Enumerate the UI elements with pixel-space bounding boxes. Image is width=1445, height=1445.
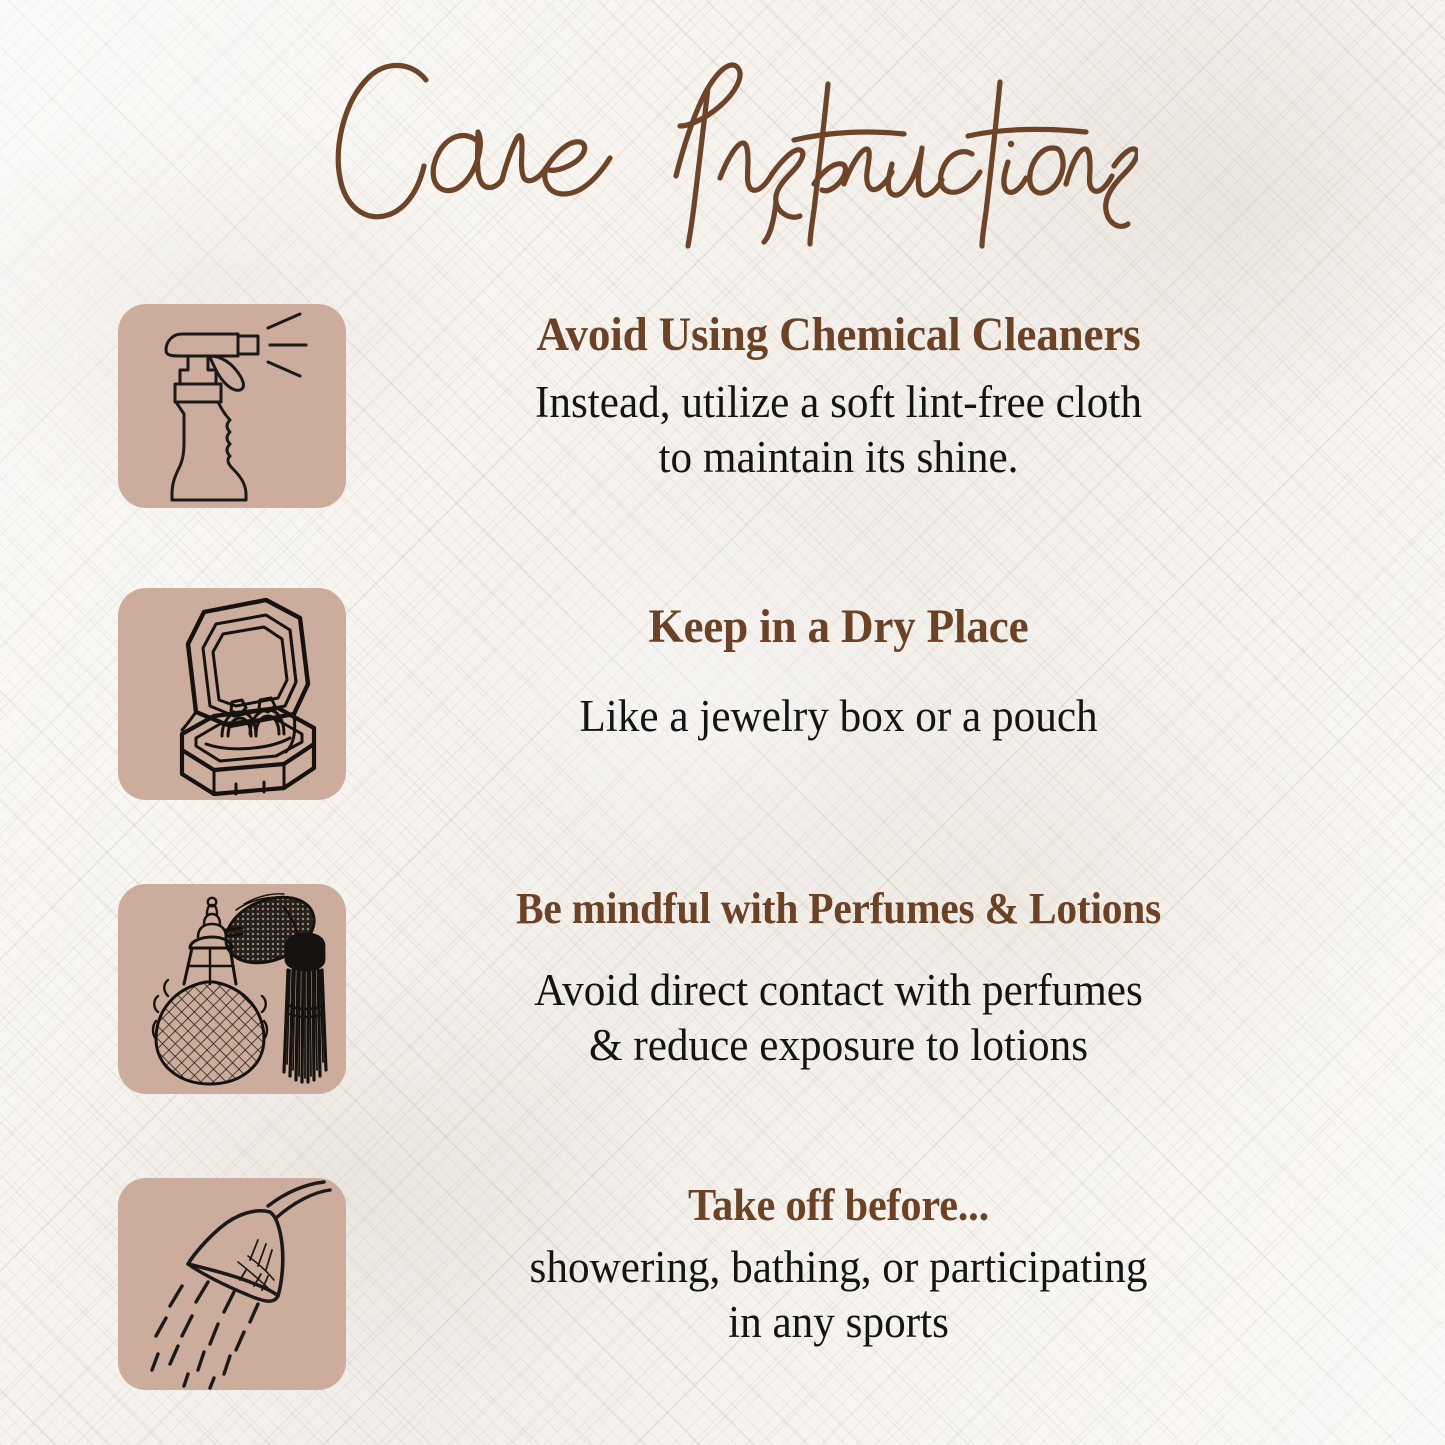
care-item-body: Instead, utilize a soft lint-free cloth …	[383, 375, 1294, 485]
care-item-row: Be mindful with Perfumes & Lotions Avoid…	[0, 884, 1445, 1094]
body-line: Instead, utilize a soft lint-free cloth	[383, 375, 1294, 430]
spray-bottle-icon	[118, 304, 346, 508]
care-item-body: Like a jewelry box or a pouch	[383, 689, 1294, 744]
care-item-row: Keep in a Dry Place Like a jewelry box o…	[0, 588, 1445, 800]
care-item-heading: Keep in a Dry Place	[392, 602, 1284, 653]
icon-tile-shower	[118, 1178, 346, 1390]
icon-tile-spray-bottle	[118, 304, 346, 508]
body-line: to maintain its shine.	[383, 430, 1294, 485]
jewelry-ring-box-icon	[118, 588, 346, 800]
icon-tile-jewelry-box	[118, 588, 346, 800]
care-item-text: Take off before... showering, bathing, o…	[346, 1178, 1445, 1349]
care-item-heading: Take off before...	[392, 1182, 1284, 1230]
care-instructions-card: Avoid Using Chemical Cleaners Instead, u…	[0, 0, 1445, 1445]
shower-head-icon	[118, 1178, 346, 1390]
perfume-atomizer-icon	[118, 884, 346, 1094]
body-line: showering, bathing, or participating	[383, 1240, 1294, 1295]
care-item-body: showering, bathing, or participating in …	[383, 1240, 1294, 1350]
icon-tile-perfume	[118, 884, 346, 1094]
care-item-text: Keep in a Dry Place Like a jewelry box o…	[346, 588, 1445, 744]
body-line: Like a jewelry box or a pouch	[383, 689, 1294, 744]
care-item-heading: Be mindful with Perfumes & Lotions	[392, 886, 1284, 933]
body-line: in any sports	[383, 1295, 1294, 1350]
body-line: Avoid direct contact with perfumes	[383, 963, 1294, 1018]
body-line: & reduce exposure to lotions	[383, 1018, 1294, 1073]
care-item-body: Avoid direct contact with perfumes & red…	[383, 963, 1294, 1073]
page-title-script	[308, 44, 1138, 256]
page-title	[0, 44, 1445, 261]
care-item-row: Avoid Using Chemical Cleaners Instead, u…	[0, 304, 1445, 508]
care-item-text: Be mindful with Perfumes & Lotions Avoid…	[346, 884, 1445, 1072]
care-item-heading: Avoid Using Chemical Cleaners	[392, 310, 1284, 361]
care-item-text: Avoid Using Chemical Cleaners Instead, u…	[346, 304, 1445, 485]
care-item-row: Take off before... showering, bathing, o…	[0, 1178, 1445, 1390]
